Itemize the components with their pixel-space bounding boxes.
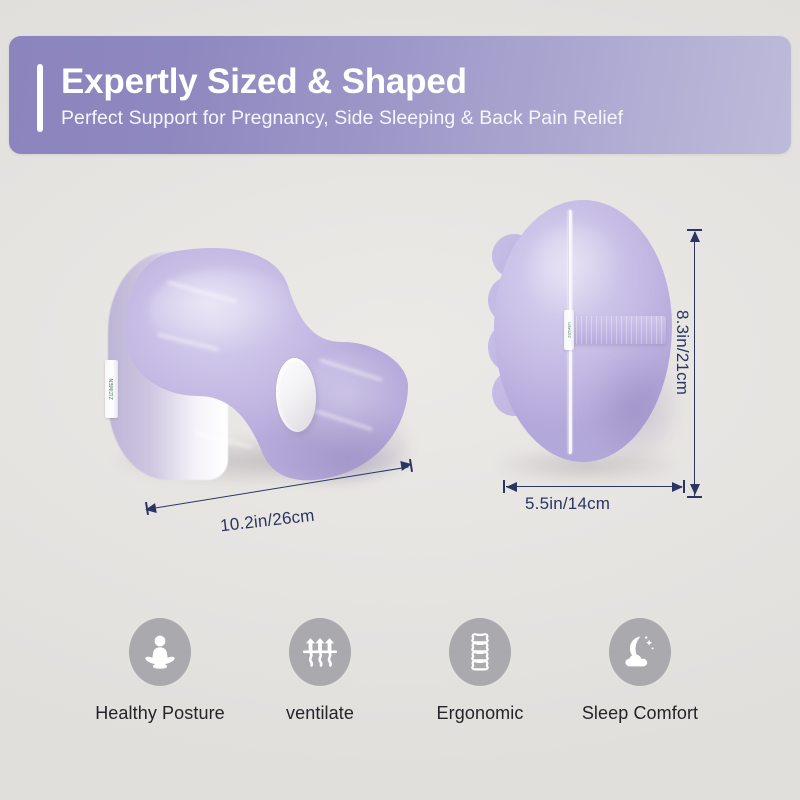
product-stage: ZIZIMEN ZIZIMEN 10.2in/26cm 5.5in/14cm bbox=[0, 180, 800, 600]
airflow-arrows-icon bbox=[300, 632, 340, 672]
dimension-height-label: 8.3in/21cm bbox=[672, 310, 692, 395]
feature-item-sleep-comfort: Sleep Comfort bbox=[560, 618, 720, 724]
feature-label: Healthy Posture bbox=[95, 703, 225, 724]
feature-icons-row: Healthy Posture ventilate bbox=[0, 618, 800, 758]
dimension-depth-line bbox=[506, 486, 682, 487]
meditation-person-icon bbox=[140, 632, 180, 672]
dimension-height-line bbox=[694, 232, 695, 498]
moon-cloud-stars-icon bbox=[619, 632, 661, 672]
banner-accent-bar bbox=[37, 64, 43, 132]
feature-item-healthy-posture: Healthy Posture bbox=[80, 618, 240, 724]
spine-vertebrae-icon bbox=[460, 630, 500, 674]
feature-item-ventilate: ventilate bbox=[240, 618, 400, 724]
front-pillow-brand-tag-text: ZIZIMEN bbox=[109, 378, 115, 399]
dimension-depth-label: 5.5in/14cm bbox=[525, 494, 610, 514]
dimension-width-arrowhead-right bbox=[400, 459, 412, 471]
side-pillow-elastic-strap bbox=[566, 316, 666, 344]
feature-icon-circle bbox=[609, 618, 671, 686]
dimension-height: 8.3in/21cm bbox=[680, 228, 724, 502]
dimension-height-arrowhead-bottom bbox=[690, 484, 700, 495]
feature-label: ventilate bbox=[286, 703, 354, 724]
side-pillow-brand-tag-text: ZIZIMEN bbox=[567, 322, 572, 338]
product-image-front-view: ZIZIMEN bbox=[108, 242, 418, 492]
feature-label: Sleep Comfort bbox=[582, 703, 698, 724]
side-pillow-brand-tag: ZIZIMEN bbox=[564, 310, 574, 350]
dimension-height-cap-bottom bbox=[687, 496, 702, 498]
feature-icon-circle bbox=[129, 618, 191, 686]
banner-subtitle: Perfect Support for Pregnancy, Side Slee… bbox=[61, 107, 623, 130]
feature-icon-circle bbox=[289, 618, 351, 686]
dimension-height-arrowhead-top bbox=[690, 231, 700, 242]
feature-label: Ergonomic bbox=[437, 703, 524, 724]
side-pillow-highlight bbox=[528, 224, 624, 320]
dimension-depth-arrowhead-left bbox=[506, 482, 517, 492]
product-image-side-view: ZIZIMEN bbox=[490, 198, 676, 488]
dimension-width: 10.2in/26cm bbox=[146, 485, 412, 525]
front-pillow-brand-tag: ZIZIMEN bbox=[105, 360, 118, 418]
dimension-depth: 5.5in/14cm bbox=[503, 480, 685, 522]
dimension-depth-cap-left bbox=[503, 480, 505, 493]
banner-title: Expertly Sized & Shaped bbox=[61, 62, 623, 101]
header-banner: Expertly Sized & Shaped Perfect Support … bbox=[9, 36, 791, 154]
feature-item-ergonomic: Ergonomic bbox=[400, 618, 560, 724]
feature-icon-circle bbox=[449, 618, 511, 686]
side-pillow-shading bbox=[586, 348, 678, 458]
dimension-width-arrowhead-left bbox=[144, 503, 156, 515]
dimension-width-label: 10.2in/26cm bbox=[219, 506, 315, 537]
